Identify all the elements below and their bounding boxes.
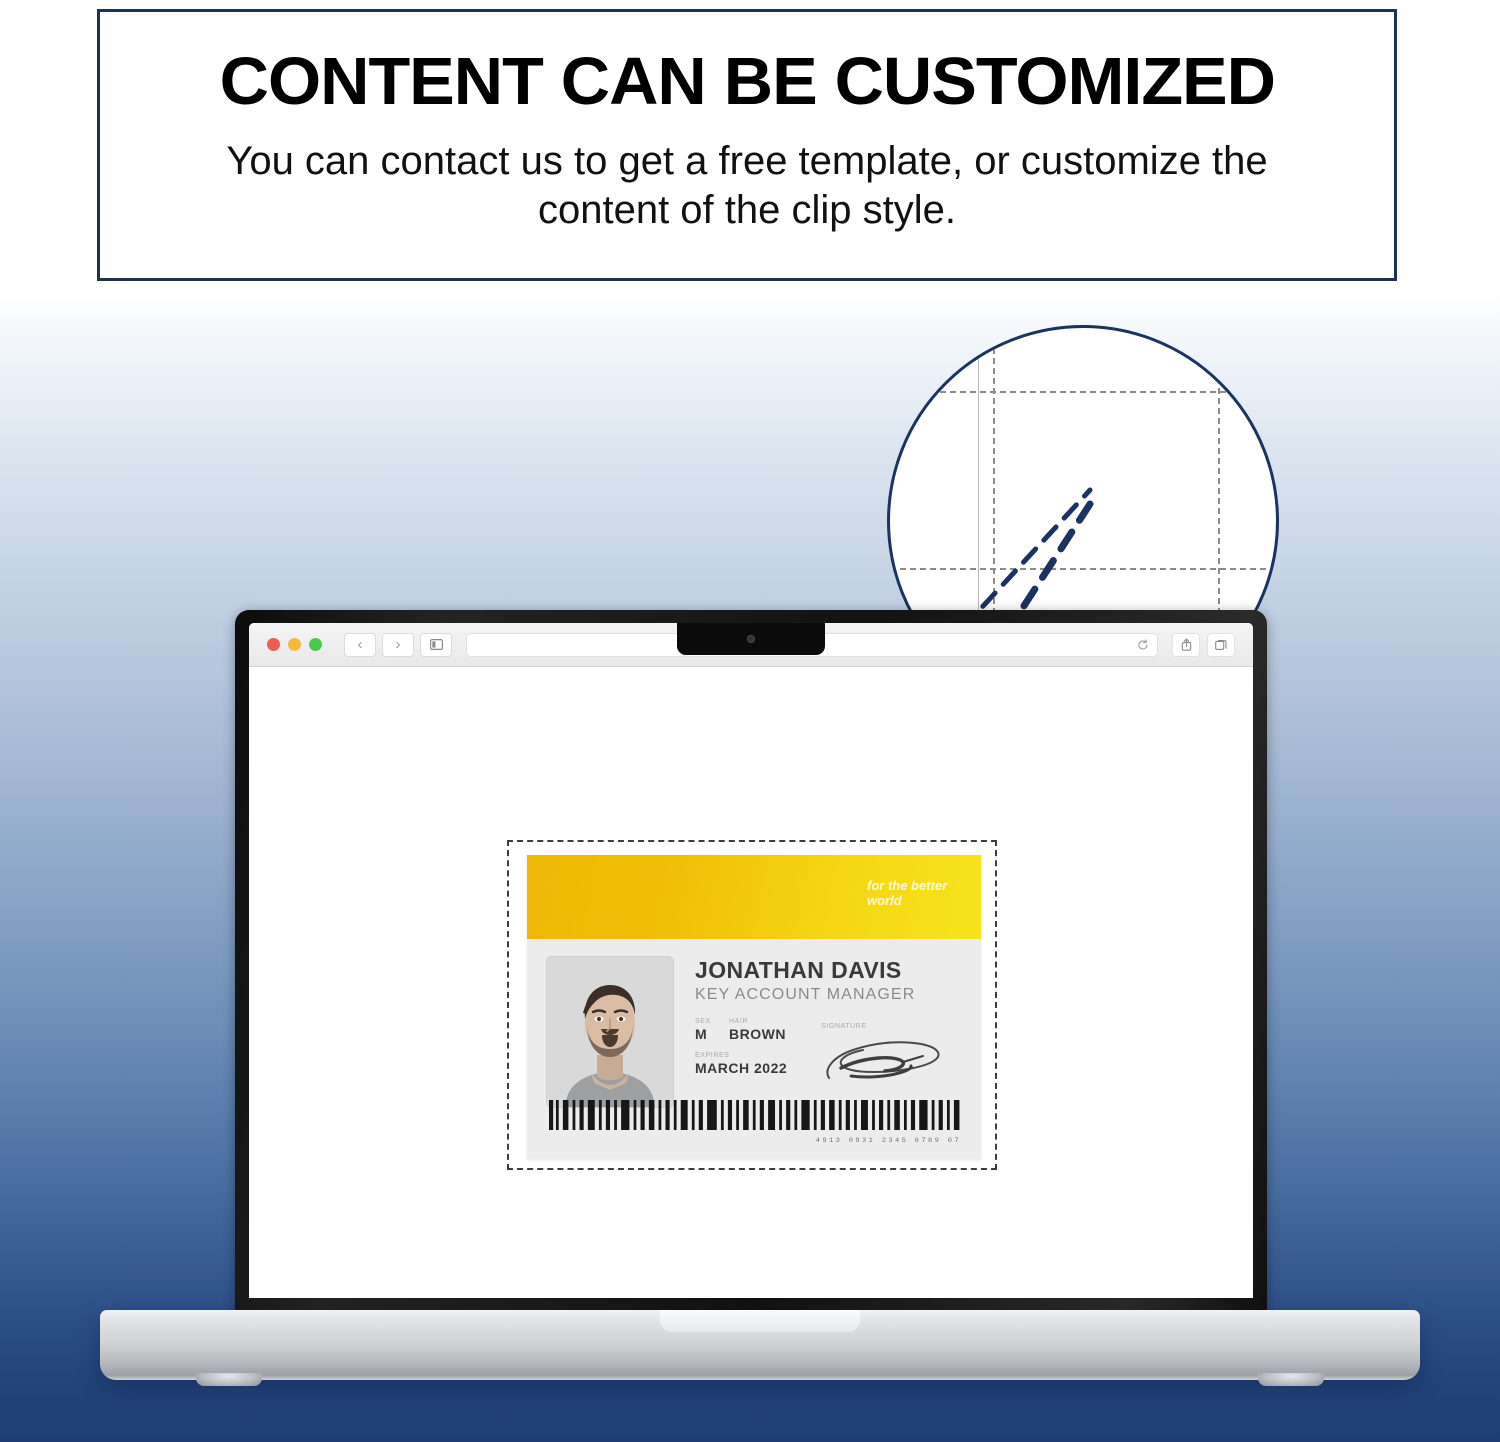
sidebar-icon: [430, 639, 443, 650]
chevron-right-icon: ›: [396, 637, 401, 652]
camera-icon: [747, 635, 755, 643]
window-controls: [267, 638, 322, 651]
field-sex: SEX M: [695, 1018, 729, 1042]
sidebar-toggle-button[interactable]: [420, 633, 452, 657]
banner-box: CONTENT CAN BE CUSTOMIZED You can contac…: [97, 9, 1397, 281]
magnified-cut-dash-horizontal-bottom: [890, 568, 1276, 570]
avatar: [547, 957, 673, 1107]
id-card[interactable]: for the better world: [527, 855, 981, 1159]
signature-block: SIGNATURE: [821, 1023, 961, 1093]
laptop-foot-right: [1258, 1373, 1324, 1386]
laptop-base: [100, 1310, 1420, 1380]
chevron-left-icon: ‹: [358, 637, 363, 652]
banner-title: CONTENT CAN BE CUSTOMIZED: [219, 48, 1274, 115]
share-icon: [1181, 638, 1192, 651]
card-tagline: for the better world: [867, 879, 959, 908]
barcode-block: 4913 0931 2345 6789 07: [549, 1100, 965, 1145]
back-button[interactable]: ‹: [344, 633, 376, 657]
field-sex-value: M: [695, 1026, 729, 1042]
card-header-band: for the better world: [527, 855, 981, 939]
reload-icon[interactable]: [1137, 639, 1149, 651]
close-window-button[interactable]: [267, 638, 280, 651]
tabs-overview-button[interactable]: [1207, 633, 1235, 657]
browser-page-content: for the better world: [249, 667, 1253, 1298]
banner-area: CONTENT CAN BE CUSTOMIZED You can contac…: [0, 0, 1500, 292]
minimize-window-button[interactable]: [288, 638, 301, 651]
barcode-number: 4913 0931 2345 6789 07: [549, 1137, 965, 1144]
barcode-icon: [549, 1100, 965, 1130]
laptop-mockup: ‹ ›: [100, 610, 1420, 1390]
screen-notch: [677, 623, 825, 655]
tabs-icon: [1215, 639, 1227, 651]
poster-canvas: CONTENT CAN BE CUSTOMIZED You can contac…: [0, 0, 1500, 1442]
maximize-window-button[interactable]: [309, 638, 322, 651]
laptop-foot-left: [196, 1373, 262, 1386]
card-cut-guide: for the better world: [507, 840, 997, 1170]
laptop-lid: ‹ ›: [235, 610, 1267, 1315]
signature-label: SIGNATURE: [821, 1023, 961, 1030]
portrait-photo-icon: [547, 957, 673, 1107]
banner-subtitle: You can contact us to get a free templat…: [157, 137, 1337, 235]
share-button[interactable]: [1172, 633, 1200, 657]
field-sex-label: SEX: [695, 1018, 729, 1025]
card-holder-role: KEY ACCOUNT MANAGER: [695, 986, 965, 1004]
forward-button[interactable]: ›: [382, 633, 414, 657]
base-lip-notch: [660, 1310, 860, 1332]
laptop-screen: ‹ ›: [249, 623, 1253, 1298]
card-holder-name: JONATHAN DAVIS: [695, 957, 965, 984]
toolbar-right-icons: [1172, 633, 1235, 657]
magnified-cut-dash-horizontal-top: [890, 391, 1276, 393]
signature-icon: [821, 1032, 959, 1088]
